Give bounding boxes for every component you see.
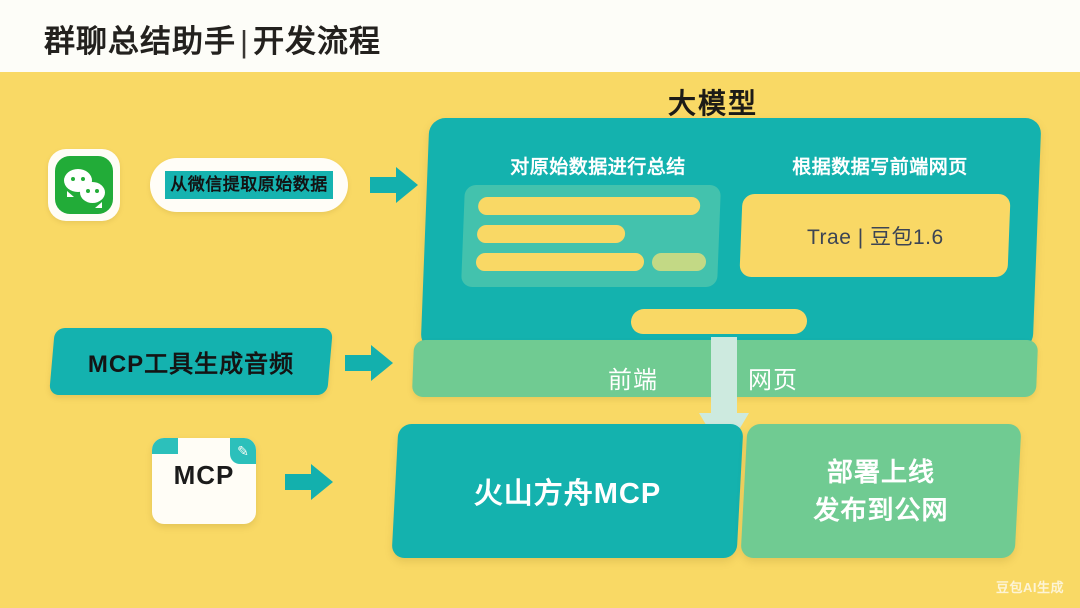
mcp-card-tab: [152, 438, 178, 454]
summary-placeholder-card: [461, 185, 721, 287]
band-label-webpage: 网页: [748, 360, 798, 395]
page-title-sub: 开发流程: [253, 24, 381, 59]
placeholder-bar-accent: [652, 253, 707, 271]
placeholder-bar: [478, 197, 701, 215]
mcp-card: ✎ MCP: [152, 438, 256, 524]
watermark: 豆包AI生成: [996, 577, 1064, 596]
deploy-line-2: 发布到公网: [813, 491, 948, 529]
mcp-card-label: MCP: [152, 460, 256, 491]
llm-section-heading: 大模型: [668, 82, 758, 122]
trae-model-card: Trae | 豆包1.6: [739, 194, 1010, 277]
wechat-bubble-small-icon: [80, 182, 105, 203]
extract-data-pill: 从微信提取原始数据: [150, 158, 348, 212]
ark-mcp-label: 火山方舟MCP: [395, 424, 740, 558]
wechat-badge: [55, 156, 113, 214]
page-title: 群聊总结助手|开发流程: [44, 16, 381, 61]
arrow-right-icon-mcp: [285, 464, 335, 500]
arrow-right-icon-audio: [345, 345, 395, 381]
placeholder-bar: [477, 225, 626, 243]
band-label-frontend: 前端: [608, 360, 658, 395]
page-title-separator: |: [236, 24, 253, 59]
slide-canvas: 群聊总结助手|开发流程 大模型 从微信提取原始数据 MCP工具生成音频: [0, 0, 1080, 608]
slide-header: 群聊总结助手|开发流程: [0, 0, 1080, 72]
deploy-label: 部署上线 发布到公网: [744, 424, 1018, 558]
trae-model-label: Trae | 豆包1.6: [807, 221, 944, 251]
wechat-icon: [48, 149, 120, 221]
frontend-title: 根据数据写前端网页: [760, 152, 1000, 179]
summary-title: 对原始数据进行总结: [482, 152, 714, 179]
extract-data-label: 从微信提取原始数据: [165, 171, 333, 199]
page-title-main: 群聊总结助手: [44, 24, 236, 59]
deploy-line-1: 部署上线: [827, 453, 935, 491]
placeholder-bar: [476, 253, 645, 271]
audio-tool-label: MCP工具生成音频: [52, 328, 330, 395]
panel-bottom-pill: [631, 309, 808, 334]
arrow-right-icon-extract: [370, 167, 420, 203]
